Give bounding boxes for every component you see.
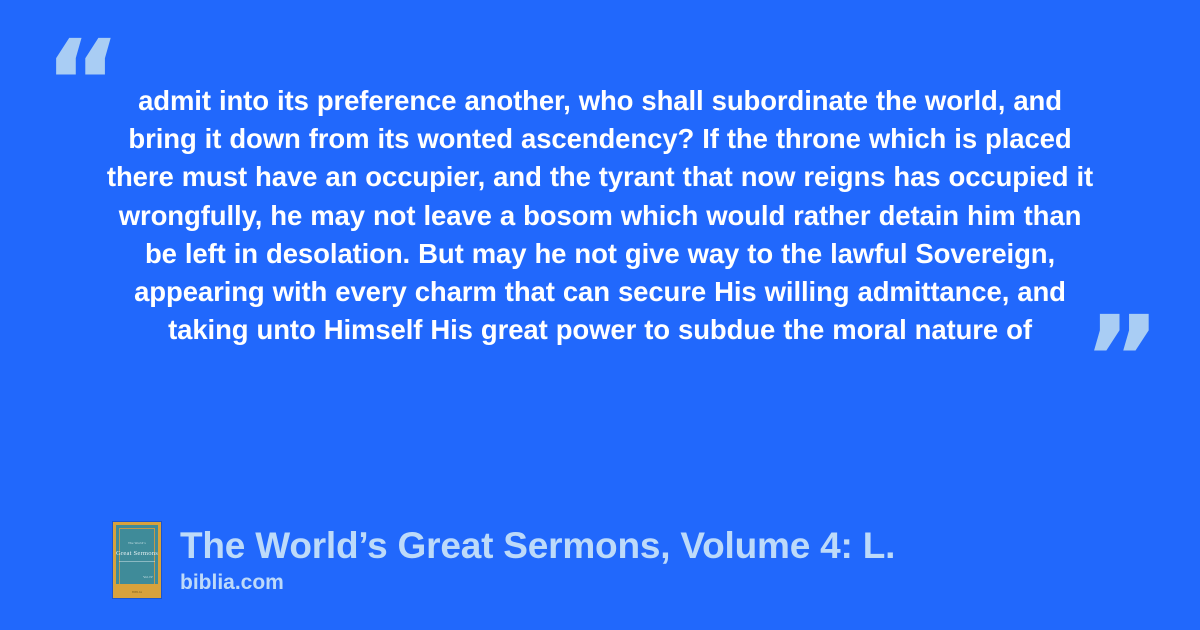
quote-text: admit into its preference another, who s… [100,82,1100,349]
book-title[interactable]: The World’s Great Sermons, Volume 4: L. [180,524,895,568]
book-cover-title: Great Sermons [113,550,161,557]
source-link[interactable]: biblia.com [180,570,895,596]
book-cover-supertitle: The World’s [113,541,161,545]
book-cover-divider [119,561,155,562]
quote-card: “ ” admit into its preference another, w… [0,0,1200,630]
book-cover-volume: Vol. IV [143,575,153,579]
quote-block: admit into its preference another, who s… [100,82,1100,349]
book-cover-footer-label: BIBLIA [113,590,161,594]
footer-text-group: The World’s Great Sermons, Volume 4: L. … [180,524,895,596]
book-cover-thumbnail[interactable]: The World’s Great Sermons Vol. IV BIBLIA [113,522,161,598]
footer: The World’s Great Sermons Vol. IV BIBLIA… [113,522,895,598]
book-cover-inner-rule [119,528,155,592]
